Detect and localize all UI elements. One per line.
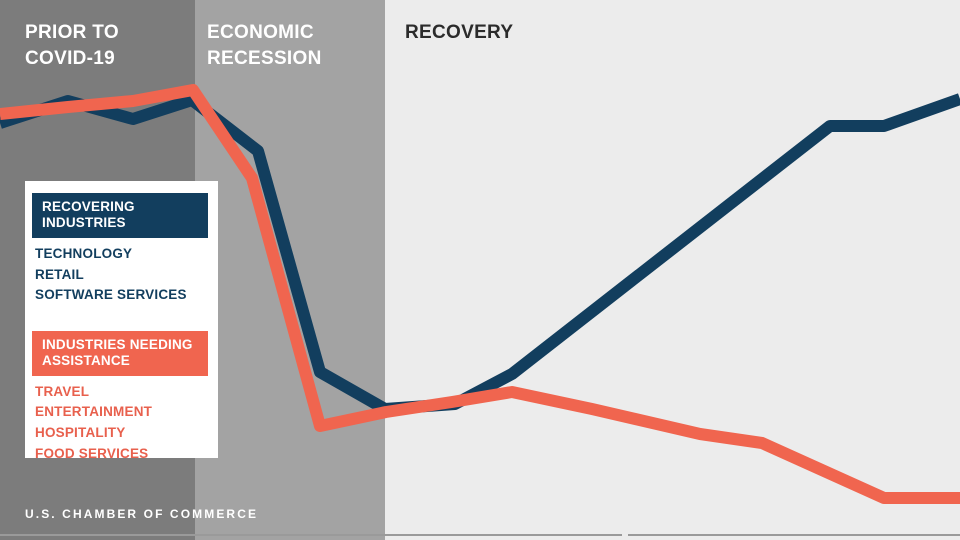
chart-legend: RECOVERING INDUSTRIES TECHNOLOGY RETAIL … (25, 181, 218, 458)
legend-divider-space (25, 306, 218, 331)
phase-title-recovery: RECOVERY (405, 20, 645, 46)
legend-items-recovering: TECHNOLOGY RETAIL SOFTWARE SERVICES (25, 238, 218, 306)
legend-item-food-services: FOOD SERVICES (35, 444, 218, 465)
legend-header-assistance: INDUSTRIES NEEDING ASSISTANCE (32, 331, 208, 376)
legend-item-travel: TRAVEL (35, 382, 218, 403)
legend-group-recovering: RECOVERING INDUSTRIES TECHNOLOGY RETAIL … (25, 193, 218, 306)
legend-item-retail: RETAIL (35, 265, 218, 286)
chamber-of-commerce-wordmark: U.S. CHAMBER OF COMMERCE (25, 507, 258, 521)
legend-items-assistance: TRAVEL ENTERTAINMENT HOSPITALITY FOOD SE… (25, 376, 218, 464)
legend-item-entertainment: ENTERTAINMENT (35, 402, 218, 423)
bottom-rule (0, 534, 960, 536)
phase-title-prior: PRIOR TO COVID-19 (25, 20, 185, 72)
legend-group-assistance: INDUSTRIES NEEDING ASSISTANCE TRAVEL ENT… (25, 331, 218, 464)
legend-header-recovering: RECOVERING INDUSTRIES (32, 193, 208, 238)
legend-item-hospitality: HOSPITALITY (35, 423, 218, 444)
legend-item-technology: TECHNOLOGY (35, 244, 218, 265)
infographic-canvas: PRIOR TO COVID-19 ECONOMIC RECESSION REC… (0, 0, 960, 540)
phase-title-recession: ECONOMIC RECESSION (207, 20, 372, 72)
legend-item-software-services: SOFTWARE SERVICES (35, 285, 218, 306)
bottom-rule-notch (622, 533, 628, 537)
